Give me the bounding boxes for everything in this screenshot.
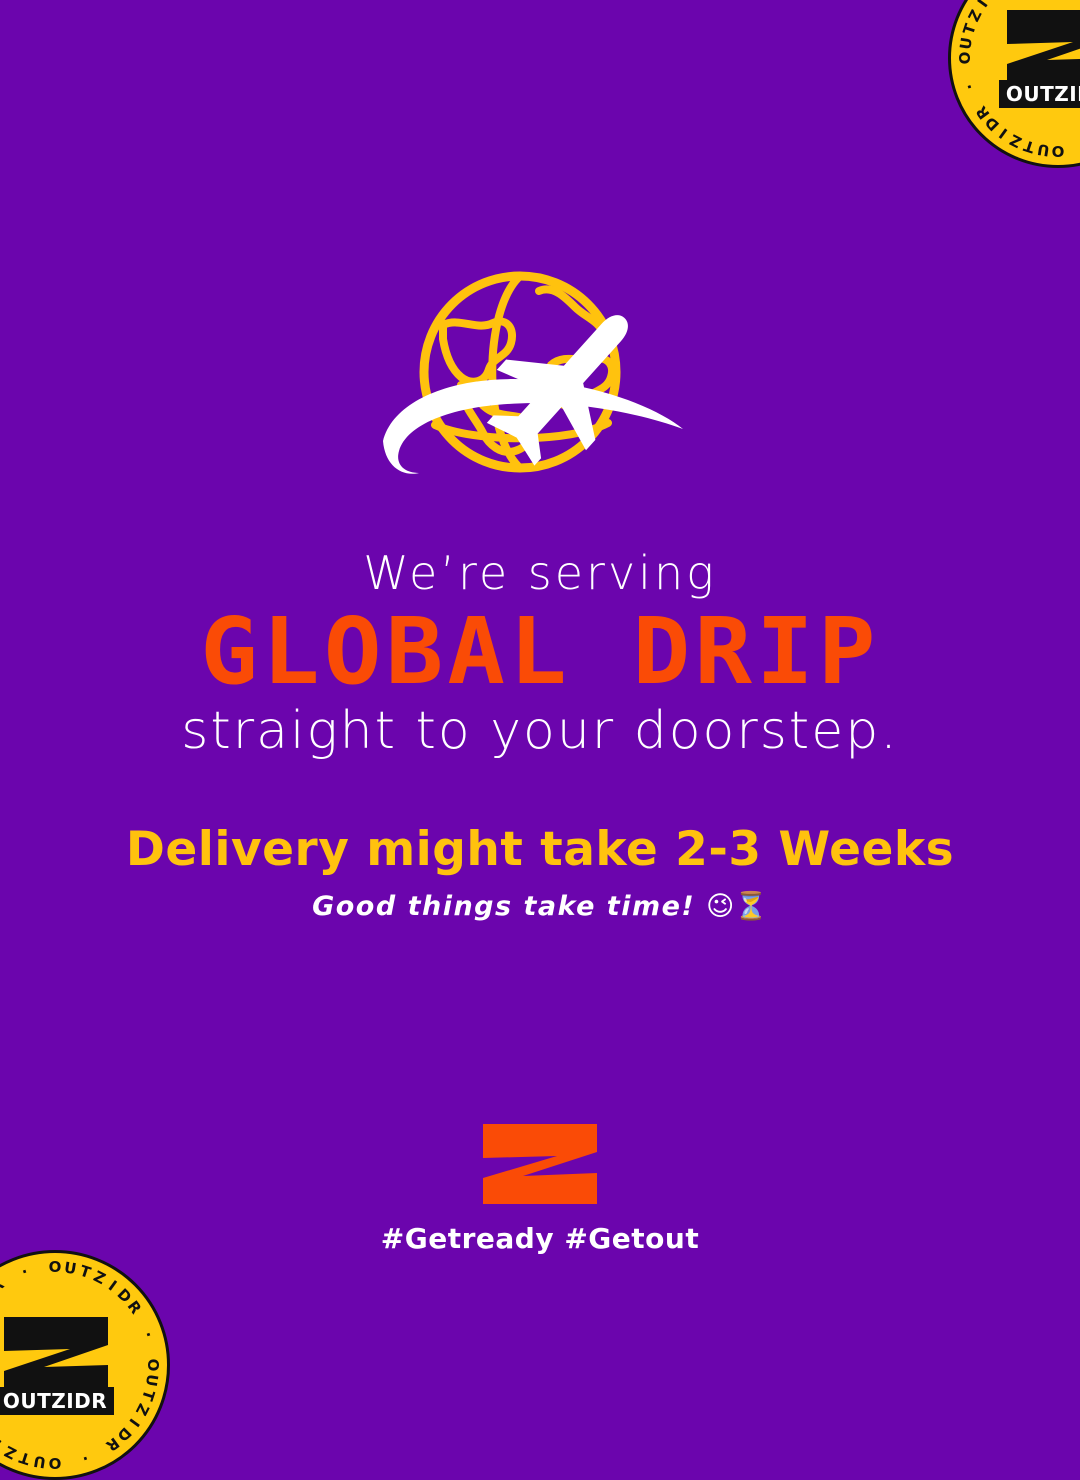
badge-ring-char: T (138, 1388, 158, 1403)
badge-ring-char: · (139, 1329, 158, 1340)
hourglass-emoji: ⏳ (734, 891, 768, 922)
badge-wordmark-top-right: OUTZIDR (999, 80, 1080, 108)
badge-ring-char: T (17, 1448, 32, 1468)
badge-ring-char: T (1022, 136, 1037, 156)
footer-block: #Getready #Getout (0, 1120, 1080, 1255)
badge-ring-char: O (1052, 142, 1065, 160)
badge-ring-char: · (80, 1449, 91, 1468)
badge-ring-char: Z (2, 1442, 20, 1463)
headline-line-global-drip: GLOBAL DRIP (0, 606, 1080, 698)
badge-ring-char: I (996, 124, 1011, 142)
badge-ring-char: O (49, 1258, 62, 1276)
badge-ring-char: U (142, 1373, 162, 1388)
badge-ring-char: Z (132, 1401, 153, 1419)
wink-face-emoji: 😉 (706, 891, 734, 922)
globe-airplane-icon (365, 265, 715, 500)
badge-ring-char: O (49, 1454, 62, 1472)
badge-ring-char: T (78, 1262, 93, 1282)
hero-logo (0, 265, 1080, 500)
delivery-subtitle: Good things take time! 😉⏳ (0, 890, 1080, 922)
footer-hashtags: #Getready #Getout (0, 1222, 1080, 1255)
badge-ring-char: U (956, 36, 976, 51)
badge-core-bottom-left: OUTZIDR (0, 1315, 114, 1415)
badge-ring-char: O (144, 1359, 162, 1372)
headline-line-serving: We’re serving (0, 548, 1080, 600)
headline-block: We’re serving GLOBAL DRIP straight to yo… (0, 548, 1080, 762)
badge-ring-char: · (960, 81, 979, 92)
delivery-subtitle-text: Good things take time! (312, 891, 695, 922)
badge-ring-char: T (959, 22, 979, 37)
badge-ring-char: Z (965, 7, 986, 25)
badge-ring-char: · (19, 1262, 30, 1281)
badge-ring-char: O (956, 52, 974, 65)
delivery-estimate-text: Delivery might take 2-3 Weeks (0, 822, 1080, 878)
badge-core-top-right: OUTZIDR (999, 8, 1080, 108)
badge-ring-char: Z (91, 1267, 109, 1288)
brand-z-logo-icon (479, 1120, 601, 1208)
outzidr-badge-bottom-left: OUTZIDR·OUTZIDR·OUTZIDR·OUTZIDR· OUTZIDR (0, 1250, 170, 1480)
badge-ring-char: U (32, 1452, 47, 1472)
badge-ring-char: U (1036, 140, 1051, 160)
outzidr-badge-top-right: OUTZIDR·OUTZIDR·OUTZIDR·OUTZIDR· OUTZIDR (948, 0, 1080, 168)
headline-line-doorstep: straight to your doorstep. (0, 700, 1080, 762)
badge-ring-char: U (63, 1258, 78, 1278)
badge-wordmark-bottom-left: OUTZIDR (0, 1387, 114, 1415)
badge-ring-char: I (125, 1415, 143, 1430)
badge-ring-char: R (0, 1275, 7, 1296)
delivery-block: Delivery might take 2-3 Weeks Good thing… (0, 822, 1080, 922)
